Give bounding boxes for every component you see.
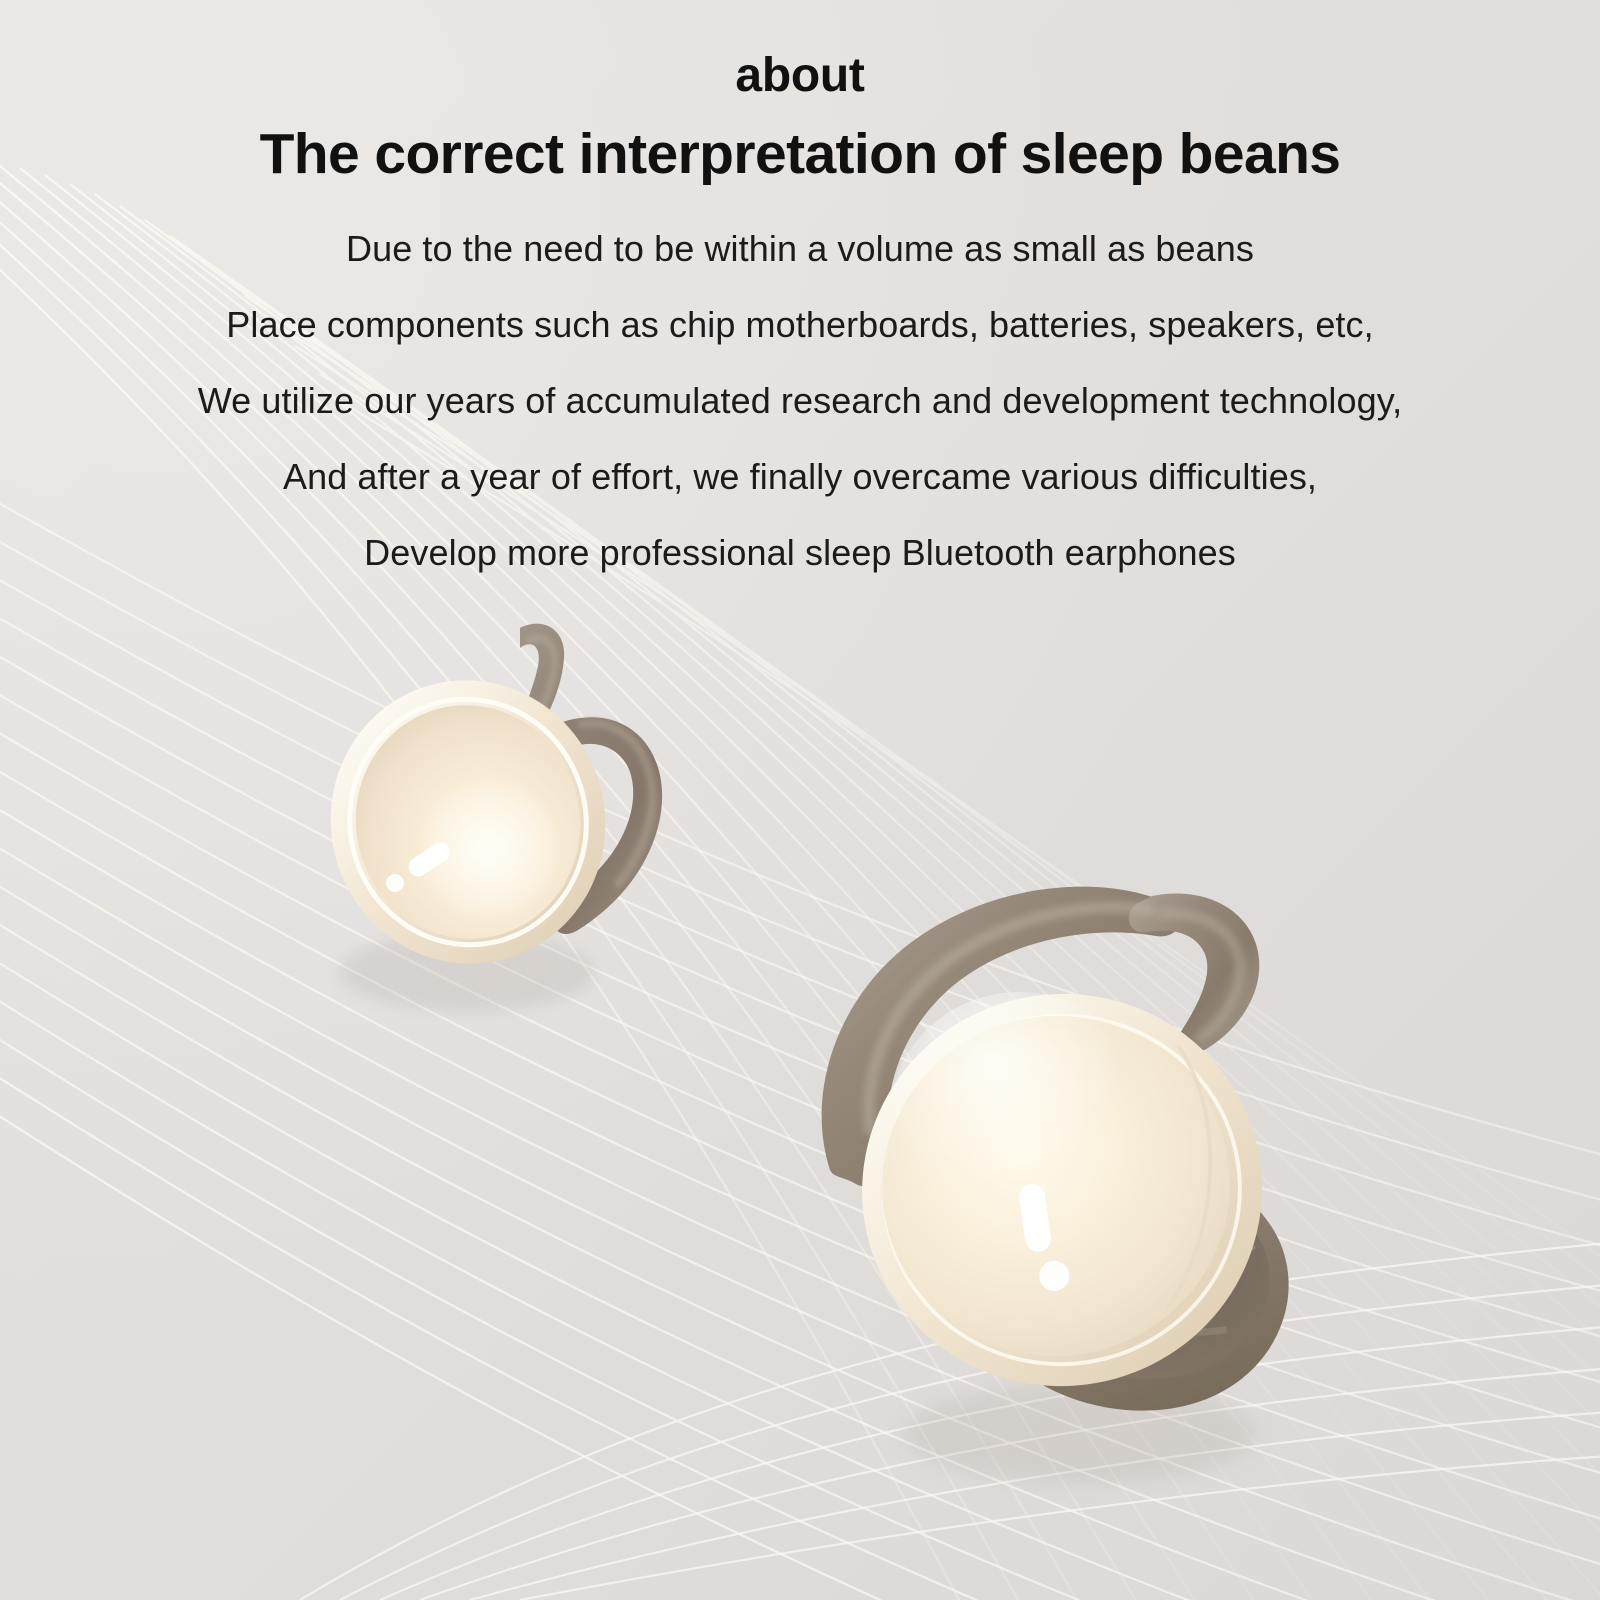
body-copy-list: Due to the need to be within a volume as… xyxy=(0,183,1600,571)
led-dot-icon xyxy=(386,874,404,892)
body-line: Place components such as chip motherboar… xyxy=(0,267,1600,343)
body-line: Develop more professional sleep Bluetoot… xyxy=(0,495,1600,571)
eyebrow-label: about xyxy=(0,0,1600,100)
page-title: The correct interpretation of sleep bean… xyxy=(0,100,1600,183)
earbud-small xyxy=(262,600,702,1040)
dome-glow xyxy=(394,744,566,920)
body-line: We utilize our years of accumulated rese… xyxy=(0,343,1600,419)
body-line: Due to the need to be within a volume as… xyxy=(0,183,1600,267)
product-feature-page: about The correct interpretation of slee… xyxy=(0,0,1600,1600)
earbud-large xyxy=(770,840,1370,1520)
headline-text-block: about The correct interpretation of slee… xyxy=(0,0,1600,571)
body-line: And after a year of effort, we finally o… xyxy=(0,419,1600,495)
